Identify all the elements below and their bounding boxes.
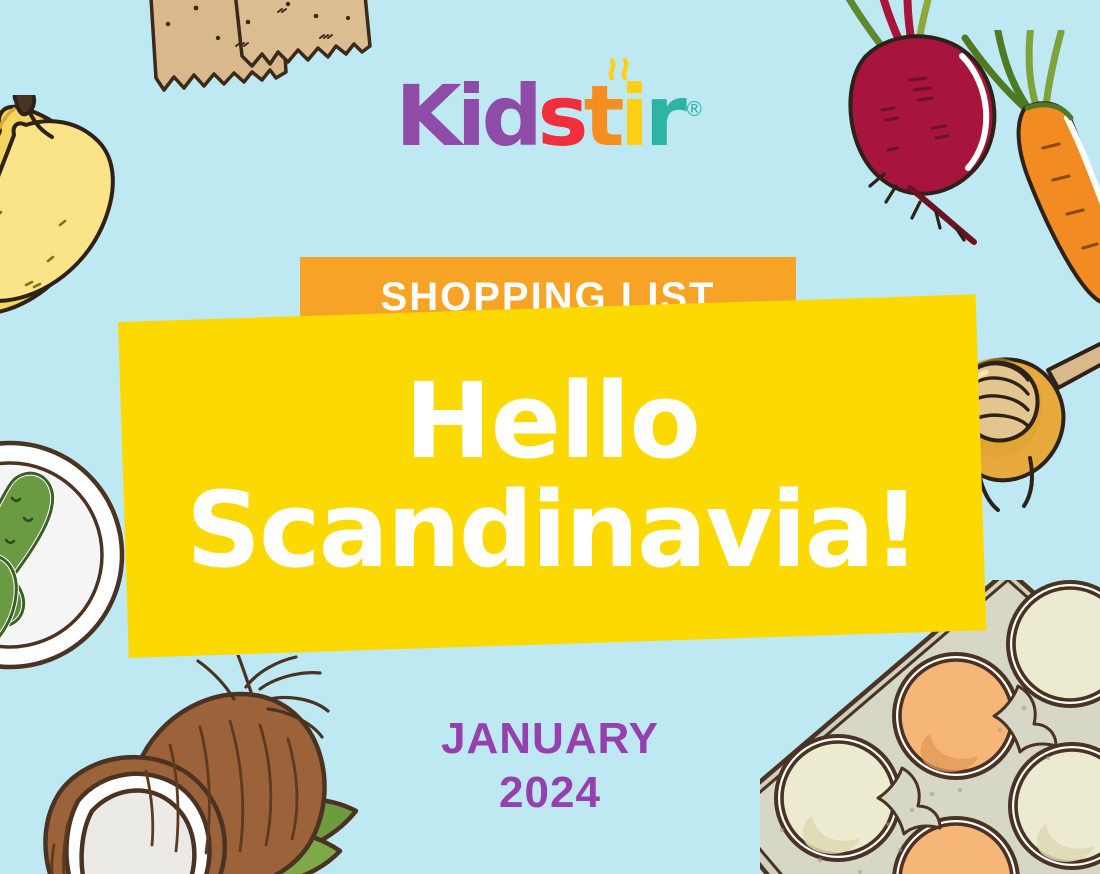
logo-letter-i2: i: [620, 74, 645, 158]
logo-letter-r: r: [644, 74, 682, 158]
registered-trademark-icon: ®: [684, 97, 704, 121]
title-line-1: Hello: [405, 367, 700, 476]
kidstir-logo[interactable]: Kidstir®: [0, 74, 1100, 158]
logo-letter-d: d: [481, 74, 538, 158]
title-card-inner: Hello Scandinavia!: [123, 308, 981, 644]
issue-month: JANUARY: [0, 712, 1100, 766]
steam-icon: [604, 54, 638, 80]
issue-date: JANUARY 2024: [0, 712, 1100, 819]
title-card: Hello Scandinavia!: [118, 294, 986, 658]
logo-letter-t: t: [583, 74, 620, 158]
issue-year: 2024: [0, 766, 1100, 820]
shopping-list-poster: Kidstir® SHOPPING LIST Hello Scandinavia…: [0, 0, 1100, 874]
logo-letter-k: K: [395, 74, 457, 158]
logo-letter-i1: i: [457, 74, 482, 158]
logo-letter-s: s: [537, 74, 584, 158]
logo-wordmark: Kidstir®: [396, 74, 704, 158]
title-line-2: Scandinavia!: [186, 476, 918, 585]
